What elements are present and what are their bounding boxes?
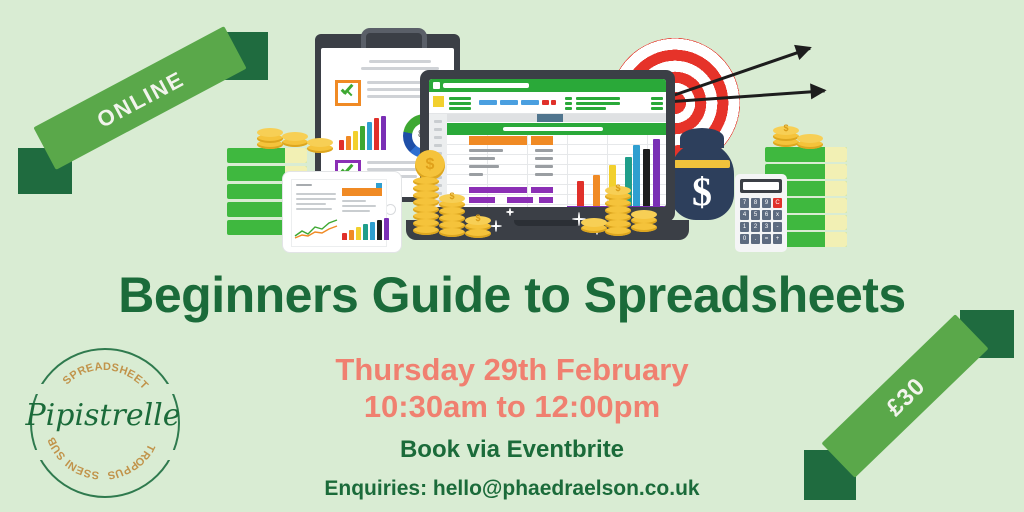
calculator-key: 8 [751,198,760,208]
money-bag-icon: $ [670,142,734,220]
ribbon-online-band: ONLINE [33,26,246,170]
calculator-key: 5 [751,210,760,220]
calculator-icon: 7 8 9 C 4 5 6 x 1 2 3 - 0 . = + [735,174,787,252]
calculator-display [740,179,782,193]
coin-symbol-center: $ [439,191,465,201]
sparkle-icon [490,220,502,232]
calculator-key-clear: C [773,198,782,208]
calculator-key: 4 [740,210,749,220]
money-bag-neck [680,128,724,148]
coin-front-symbol: $ [415,150,445,180]
event-date: Thursday 29th February [0,352,1024,388]
tablet-icon [283,172,401,252]
money-bag-tie [674,160,730,168]
spreadsheet-header-row [447,123,666,135]
calculator-key: 6 [762,210,771,220]
tablet-bar-chart [342,218,389,240]
page-title: Beginners Guide to Spreadsheets [0,266,1024,324]
calculator-key: - [773,222,782,232]
calculator-key: 2 [751,222,760,232]
calculator-key: 0 [740,234,749,244]
event-time: 10:30am to 12:00pm [0,389,1024,425]
money-bag-symbol: $ [670,172,734,212]
coin-symbol-laptop-right: $ [605,183,631,193]
tablet-line-chart [294,218,338,240]
coin-symbol-center-2: $ [465,213,491,223]
tablet-screen [291,179,387,247]
clipboard-bar-chart [339,116,386,150]
calculator-key: . [751,234,760,244]
calculator-key: x [773,210,782,220]
calculator-key: 9 [762,198,771,208]
coin-symbol-right: $ [773,123,799,133]
spreadsheet-toolbar [429,92,666,114]
ribbon-online: ONLINE [18,30,268,200]
calculator-keys: 7 8 9 C 4 5 6 x 1 2 3 - 0 . = + [740,198,782,244]
enquiry-info: Enquiries: hello@phaedraelson.co.uk [0,477,1024,501]
calculator-key: = [762,234,771,244]
ribbon-online-label: ONLINE [39,38,242,162]
calculator-key: 3 [762,222,771,232]
illustration-scene: $ 7 8 9 C 4 5 6 x 1 2 3 - 0 . = [205,22,835,257]
spreadsheet-column-headers [429,114,666,122]
booking-info: Book via Eventbrite [0,436,1024,464]
spreadsheet-grid [447,135,666,207]
sparkle-icon [506,208,514,216]
poster-canvas: $ 7 8 9 C 4 5 6 x 1 2 3 - 0 . = [0,0,1024,512]
calculator-key: + [773,234,782,244]
calculator-key: 1 [740,222,749,232]
calculator-key: 7 [740,198,749,208]
spreadsheet-titlebar [429,79,666,92]
